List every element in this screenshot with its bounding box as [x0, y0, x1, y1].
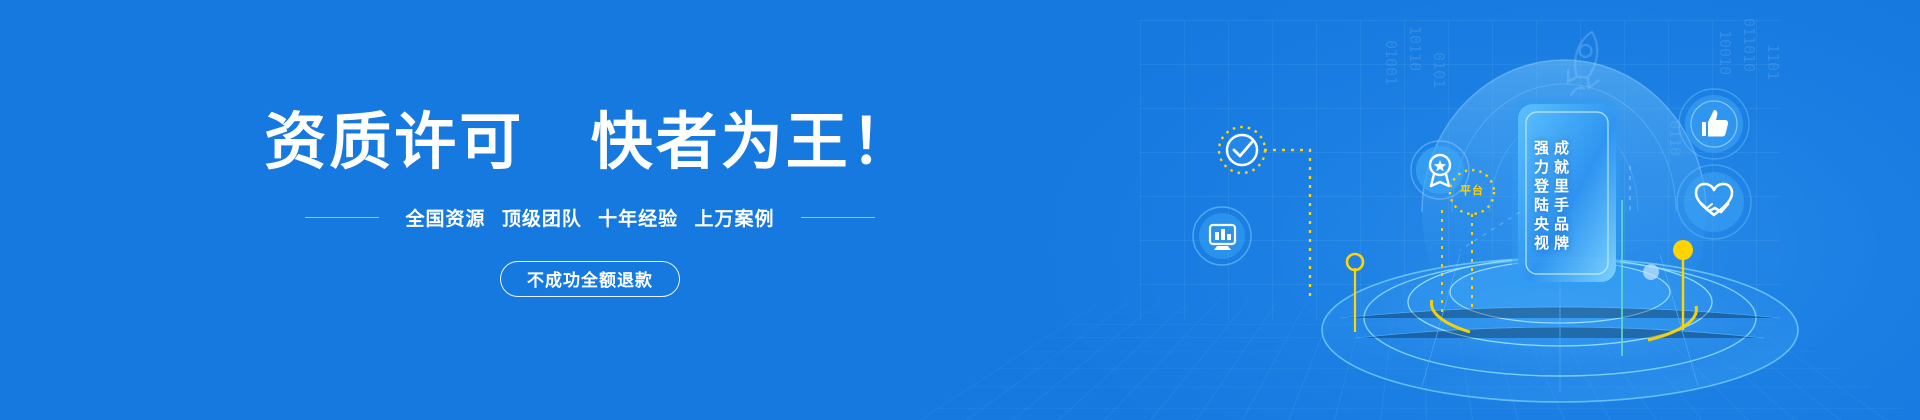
- headline-part-2: 快者为王！: [591, 108, 916, 177]
- subtitle: 全国资源 顶级团队 十年经验 上万案例: [401, 204, 780, 231]
- illustration: 01001 10110 0101 10010 011010 1101 0110: [1160, 0, 1920, 420]
- svg-text:01001: 01001: [1382, 40, 1400, 85]
- divider-right: [801, 217, 875, 218]
- headline: 资质许可 快者为王！: [264, 109, 916, 177]
- handshake-heart-icon: [1677, 165, 1751, 239]
- chart-monitor-icon: [1193, 207, 1251, 265]
- medal-icon: [1411, 141, 1469, 199]
- check-circle-icon: [1219, 127, 1265, 173]
- thumbs-up-icon: [1679, 89, 1749, 159]
- device-card: [1512, 98, 1620, 288]
- subtitle-item-3: 上万案例: [694, 209, 774, 230]
- svg-text:1101: 1101: [1764, 44, 1782, 80]
- subtitle-item-0: 全国资源: [406, 209, 486, 230]
- subtitle-item-1: 顶级团队: [502, 209, 582, 230]
- svg-text:011010: 011010: [1740, 18, 1758, 72]
- promo-banner: 资质许可 快者为王！ 全国资源 顶级团队 十年经验 上万案例 不成功全额退款: [0, 0, 1920, 420]
- headline-part-1: 资质许可: [264, 108, 524, 177]
- refund-guarantee-button[interactable]: 不成功全额退款: [500, 261, 680, 297]
- svg-text:10010: 10010: [1716, 30, 1734, 75]
- svg-text:10110: 10110: [1406, 26, 1424, 71]
- subtitle-row: 全国资源 顶级团队 十年经验 上万案例: [305, 204, 876, 231]
- svg-text:0101: 0101: [1430, 52, 1448, 88]
- divider-left: [305, 217, 379, 218]
- subtitle-item-2: 十年经验: [598, 209, 678, 230]
- copy-block: 资质许可 快者为王！ 全国资源 顶级团队 十年经验 上万案例 不成功全额退款: [0, 0, 1180, 420]
